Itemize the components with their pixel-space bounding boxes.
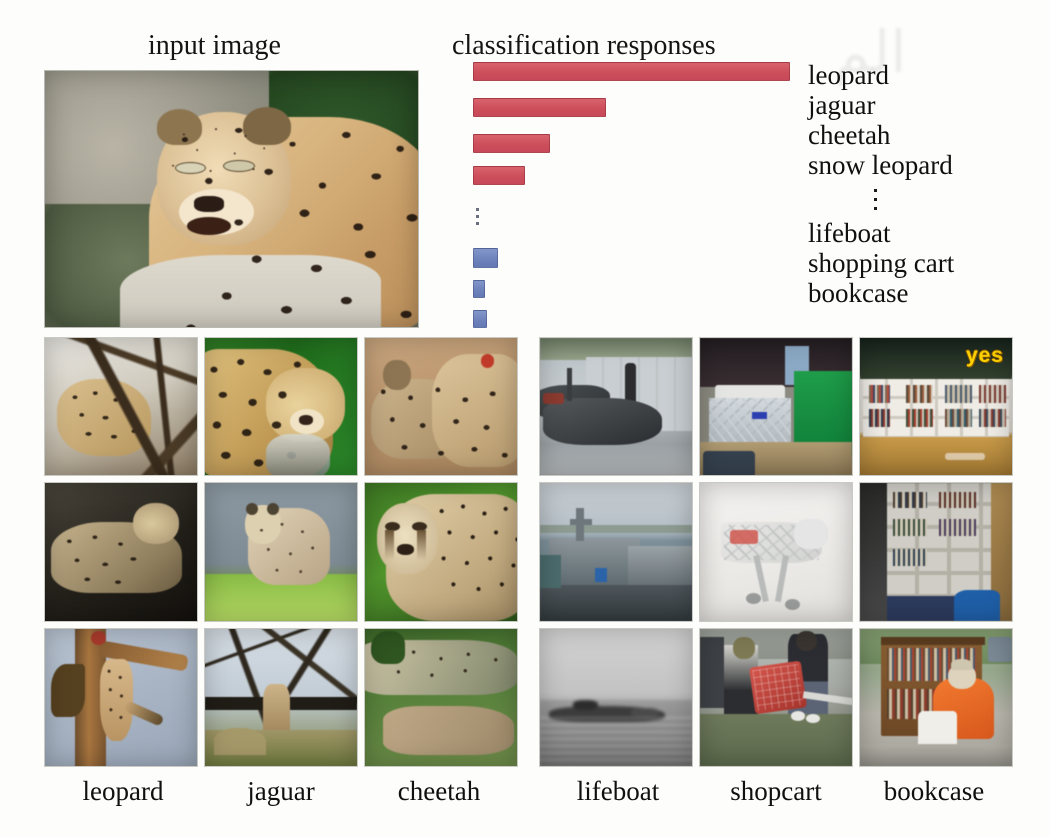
right-image-grid: yes	[539, 337, 1013, 767]
bar-cheetah	[473, 134, 550, 153]
class-label-lifeboat: lifeboat	[808, 218, 1048, 248]
class-label-leopard: leopard	[808, 60, 1048, 90]
left-image-grid	[44, 337, 518, 767]
class-label-snow-leopard: snow leopard	[808, 150, 1048, 180]
input-image-photo	[44, 70, 419, 328]
grid-cell-leopard-2	[44, 482, 198, 621]
column-label-shopcart: shopcart	[697, 776, 855, 807]
bar-shopping-cart	[473, 280, 485, 298]
label-vertical-ellipsis-icon	[808, 180, 1048, 218]
grid-cell-lifeboat-2	[539, 482, 693, 621]
grid-cell-bookcase-1: yes	[859, 337, 1013, 476]
class-label-jaguar: jaguar	[808, 90, 1048, 120]
class-label-list: leopard jaguar cheetah snow leopard life…	[808, 60, 1048, 308]
grid-cell-cheetah-2	[364, 482, 518, 621]
bar-jaguar	[473, 98, 606, 117]
grid-cell-bookcase-3	[859, 628, 1013, 767]
grid-cell-bookcase-2	[859, 482, 1013, 621]
column-label-cheetah: cheetah	[360, 776, 518, 807]
right-grid-column-labels: lifeboat shopcart bookcase	[539, 776, 1013, 807]
bar-leopard	[473, 62, 790, 81]
grid-cell-leopard-1	[44, 337, 198, 476]
grid-cell-cheetah-3	[364, 628, 518, 767]
grid-cell-shopcart-1	[699, 337, 853, 476]
bar-bookcase	[473, 310, 487, 328]
grid-cell-shopcart-3	[699, 628, 853, 767]
classification-response-bar-chart	[473, 62, 803, 322]
chart-vertical-ellipsis-icon	[476, 204, 490, 229]
left-grid-column-labels: leopard jaguar cheetah	[44, 776, 518, 807]
class-label-cheetah: cheetah	[808, 120, 1048, 150]
grid-cell-jaguar-3	[204, 628, 358, 767]
grid-cell-shopcart-2	[699, 482, 853, 621]
grid-cell-cheetah-1	[364, 337, 518, 476]
column-label-jaguar: jaguar	[202, 776, 360, 807]
grid-cell-leopard-3	[44, 628, 198, 767]
column-label-leopard: leopard	[44, 776, 202, 807]
class-label-shopping-cart: shopping cart	[808, 248, 1048, 278]
bar-snow-leopard	[473, 166, 525, 185]
class-label-bookcase: bookcase	[808, 278, 1048, 308]
bar-lifeboat	[473, 248, 498, 268]
column-label-bookcase: bookcase	[855, 776, 1013, 807]
grid-cell-jaguar-1	[204, 337, 358, 476]
column-label-lifeboat: lifeboat	[539, 776, 697, 807]
input-image-title: input image	[148, 30, 281, 62]
grid-cell-jaguar-2	[204, 482, 358, 621]
grid-cell-lifeboat-1	[539, 337, 693, 476]
figure-root: الم input image classification responses	[0, 0, 1050, 837]
classification-responses-title: classification responses	[452, 30, 716, 62]
grid-cell-lifeboat-3	[539, 628, 693, 767]
